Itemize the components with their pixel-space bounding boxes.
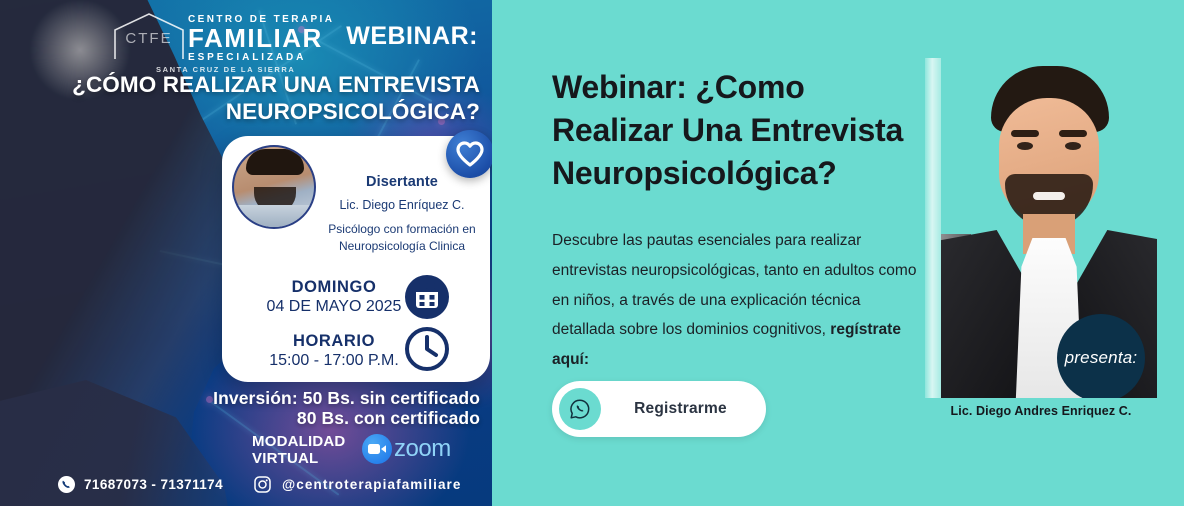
avatar-shirt — [234, 205, 314, 227]
webinar-landing-page: CTFE CENTRO DE TERAPIA FAMILIAR ESPECIAL… — [0, 0, 1184, 506]
speaker-info-card: Disertante Lic. Diego Enríquez C. Psicól… — [222, 136, 490, 382]
speaker-name: Lic. Diego Enríquez C. — [326, 198, 478, 212]
speaker-photo-caption: Lic. Diego Andres Enriquez C. — [925, 404, 1157, 418]
photo-eye-right — [1065, 142, 1081, 150]
event-time-value: 15:00 - 17:00 P.M. — [262, 352, 406, 370]
logo-monogram: CTFE — [120, 30, 178, 47]
right-content-panel: Webinar: ¿Como Realizar Una Entrevista N… — [492, 0, 1184, 506]
event-date-value: 04 DE MAYO 2025 — [262, 298, 406, 316]
modality-line-1: MODALIDAD — [252, 434, 345, 451]
modality-label: MODALIDAD VIRTUAL — [252, 434, 345, 468]
contact-phone: 71687073 - 71371174 — [58, 476, 223, 493]
speaker-avatar — [232, 145, 316, 229]
speaker-photo-card: presenta: — [925, 58, 1157, 398]
webinar-poster: CTFE CENTRO DE TERAPIA FAMILIAR ESPECIAL… — [0, 0, 492, 506]
modality-line-2: VIRTUAL — [252, 451, 345, 468]
phone-icon — [58, 476, 75, 493]
event-day-label: DOMINGO — [262, 278, 406, 297]
poster-title: ¿CÓMO REALIZAR UNA ENTREVISTA NEUROPSICO… — [60, 72, 480, 125]
speaker-role-label: Disertante — [326, 174, 478, 190]
register-button-label: Registrarme — [601, 400, 766, 418]
instagram-handle: @centroterapiafamiliare — [282, 477, 462, 492]
event-date-block: DOMINGO 04 DE MAYO 2025 — [262, 278, 406, 316]
speaker-details: Disertante Lic. Diego Enríquez C. Psicól… — [326, 174, 478, 256]
video-camera-icon — [362, 434, 392, 464]
price-line-2: 80 Bs. con certificado — [100, 408, 480, 428]
photo-eye-left — [1017, 142, 1033, 150]
contact-instagram: @centroterapiafamiliare — [254, 476, 462, 493]
avatar-hair — [246, 149, 304, 175]
zoom-wordmark: zoom — [394, 435, 451, 463]
photo-brow-right — [1059, 130, 1087, 137]
speaker-description: Psicólogo con formación en Neuropsicolog… — [326, 221, 478, 256]
photo-left-strip — [925, 58, 941, 398]
whatsapp-glyph — [568, 397, 592, 421]
phone-number: 71687073 - 71371174 — [84, 477, 223, 492]
favorite-badge[interactable] — [446, 130, 492, 178]
zoom-logo: zoom — [362, 434, 451, 464]
description-text: Descubre las pautas esenciales para real… — [552, 226, 920, 375]
price-info: Inversión: 50 Bs. sin certificado 80 Bs.… — [100, 388, 480, 428]
logo-line-3: ESPECIALIZADA — [188, 52, 306, 63]
photo-brow-left — [1011, 130, 1039, 137]
camera-glyph — [368, 443, 386, 455]
event-time-block: HORARIO 15:00 - 17:00 P.M. — [262, 332, 406, 370]
heart-icon — [456, 141, 484, 167]
calendar-icon — [404, 274, 450, 320]
register-button[interactable]: Registrarme — [552, 381, 766, 437]
logo-line-2: FAMILIAR — [188, 25, 323, 51]
clock-icon — [404, 326, 450, 372]
price-line-1: Inversión: 50 Bs. sin certificado — [100, 388, 480, 408]
event-time-label: HORARIO — [262, 332, 406, 351]
ctfe-logo: CTFE CENTRO DE TERAPIA FAMILIAR ESPECIAL… — [112, 8, 298, 70]
webinar-kicker: WEBINAR: — [346, 22, 478, 51]
instagram-icon — [254, 476, 271, 493]
presenta-badge: presenta: — [1057, 314, 1145, 398]
page-title: Webinar: ¿Como Realizar Una Entrevista N… — [552, 66, 932, 196]
photo-mouth — [1033, 192, 1065, 200]
whatsapp-icon — [559, 388, 601, 430]
